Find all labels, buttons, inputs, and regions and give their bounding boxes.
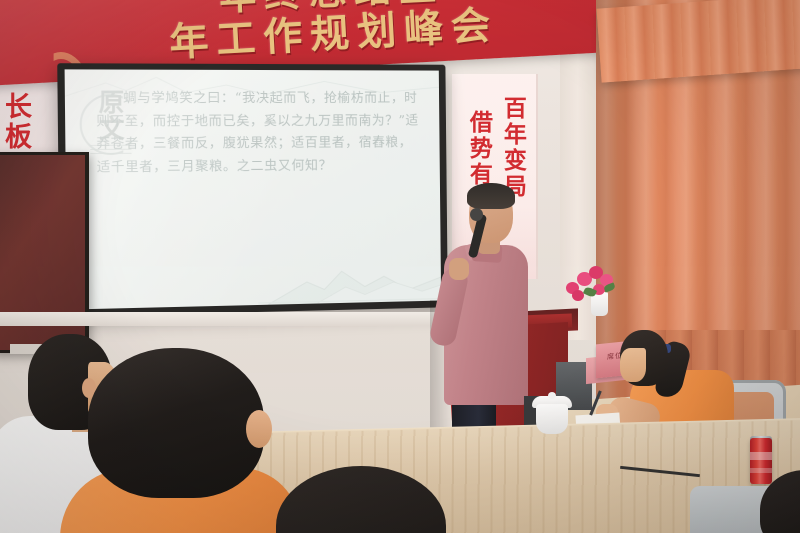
can-label-band: [750, 452, 772, 460]
teacup-knob: [548, 392, 556, 399]
projection-screen: 原文 蜩与学鸠笑之曰：“我决起而飞，抢榆枋而止，时则不至，而控于地而已矣，奚以之…: [65, 69, 442, 309]
wall-ledge: [0, 312, 470, 326]
speaker-hair: [467, 183, 515, 209]
projection-screen-frame: 原文 蜩与学鸠笑之曰：“我决起而飞，抢榆枋而止，时则不至，而控于地而已矣，奚以之…: [57, 63, 448, 317]
beverage-can: [750, 438, 772, 484]
can-label-band-2: [750, 468, 772, 473]
curtain-valance: [597, 0, 800, 83]
microphone-head-icon: [470, 208, 483, 221]
conference-photo-scene: 年终总结暨 年工作规划峰会 长板 百年变局 借势有为 原文 蜩与学鸠笑之曰：“我…: [0, 0, 800, 533]
screen-glare: [65, 69, 442, 309]
teacup: [536, 404, 568, 434]
audience-orange-ear: [246, 410, 272, 448]
left-board-text: 长板: [0, 92, 35, 152]
attendee-right-face: [620, 348, 646, 382]
speaker-hand: [449, 258, 469, 280]
audience-orange-head: [88, 348, 264, 498]
